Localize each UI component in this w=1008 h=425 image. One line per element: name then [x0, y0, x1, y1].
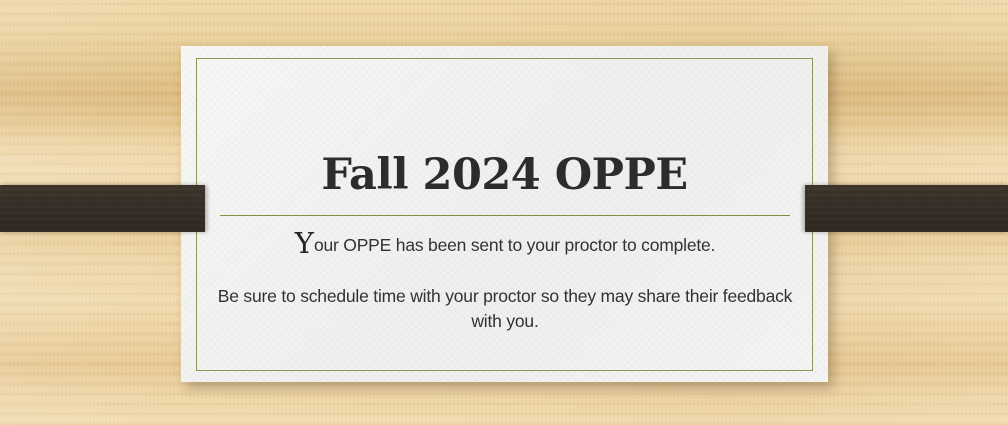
body-paragraph-1: Your OPPE has been sent to your proctor … [215, 226, 795, 258]
decorative-band-right [805, 185, 1008, 232]
slide-title: Fall 2024 OPPE [181, 154, 828, 197]
decorative-band-left [0, 185, 205, 232]
slide-body: Your OPPE has been sent to your proctor … [215, 226, 795, 334]
title-divider-rule [220, 215, 790, 216]
body-paragraph-2: Be sure to schedule time with your proct… [215, 258, 795, 334]
body-paragraph-1-text: our OPPE has been sent to your proctor t… [314, 235, 715, 255]
presentation-slide: Fall 2024 OPPE Your OPPE has been sent t… [0, 0, 1008, 425]
slide-content: Fall 2024 OPPE Your OPPE has been sent t… [181, 46, 828, 382]
drop-cap-letter: Y [295, 226, 314, 260]
